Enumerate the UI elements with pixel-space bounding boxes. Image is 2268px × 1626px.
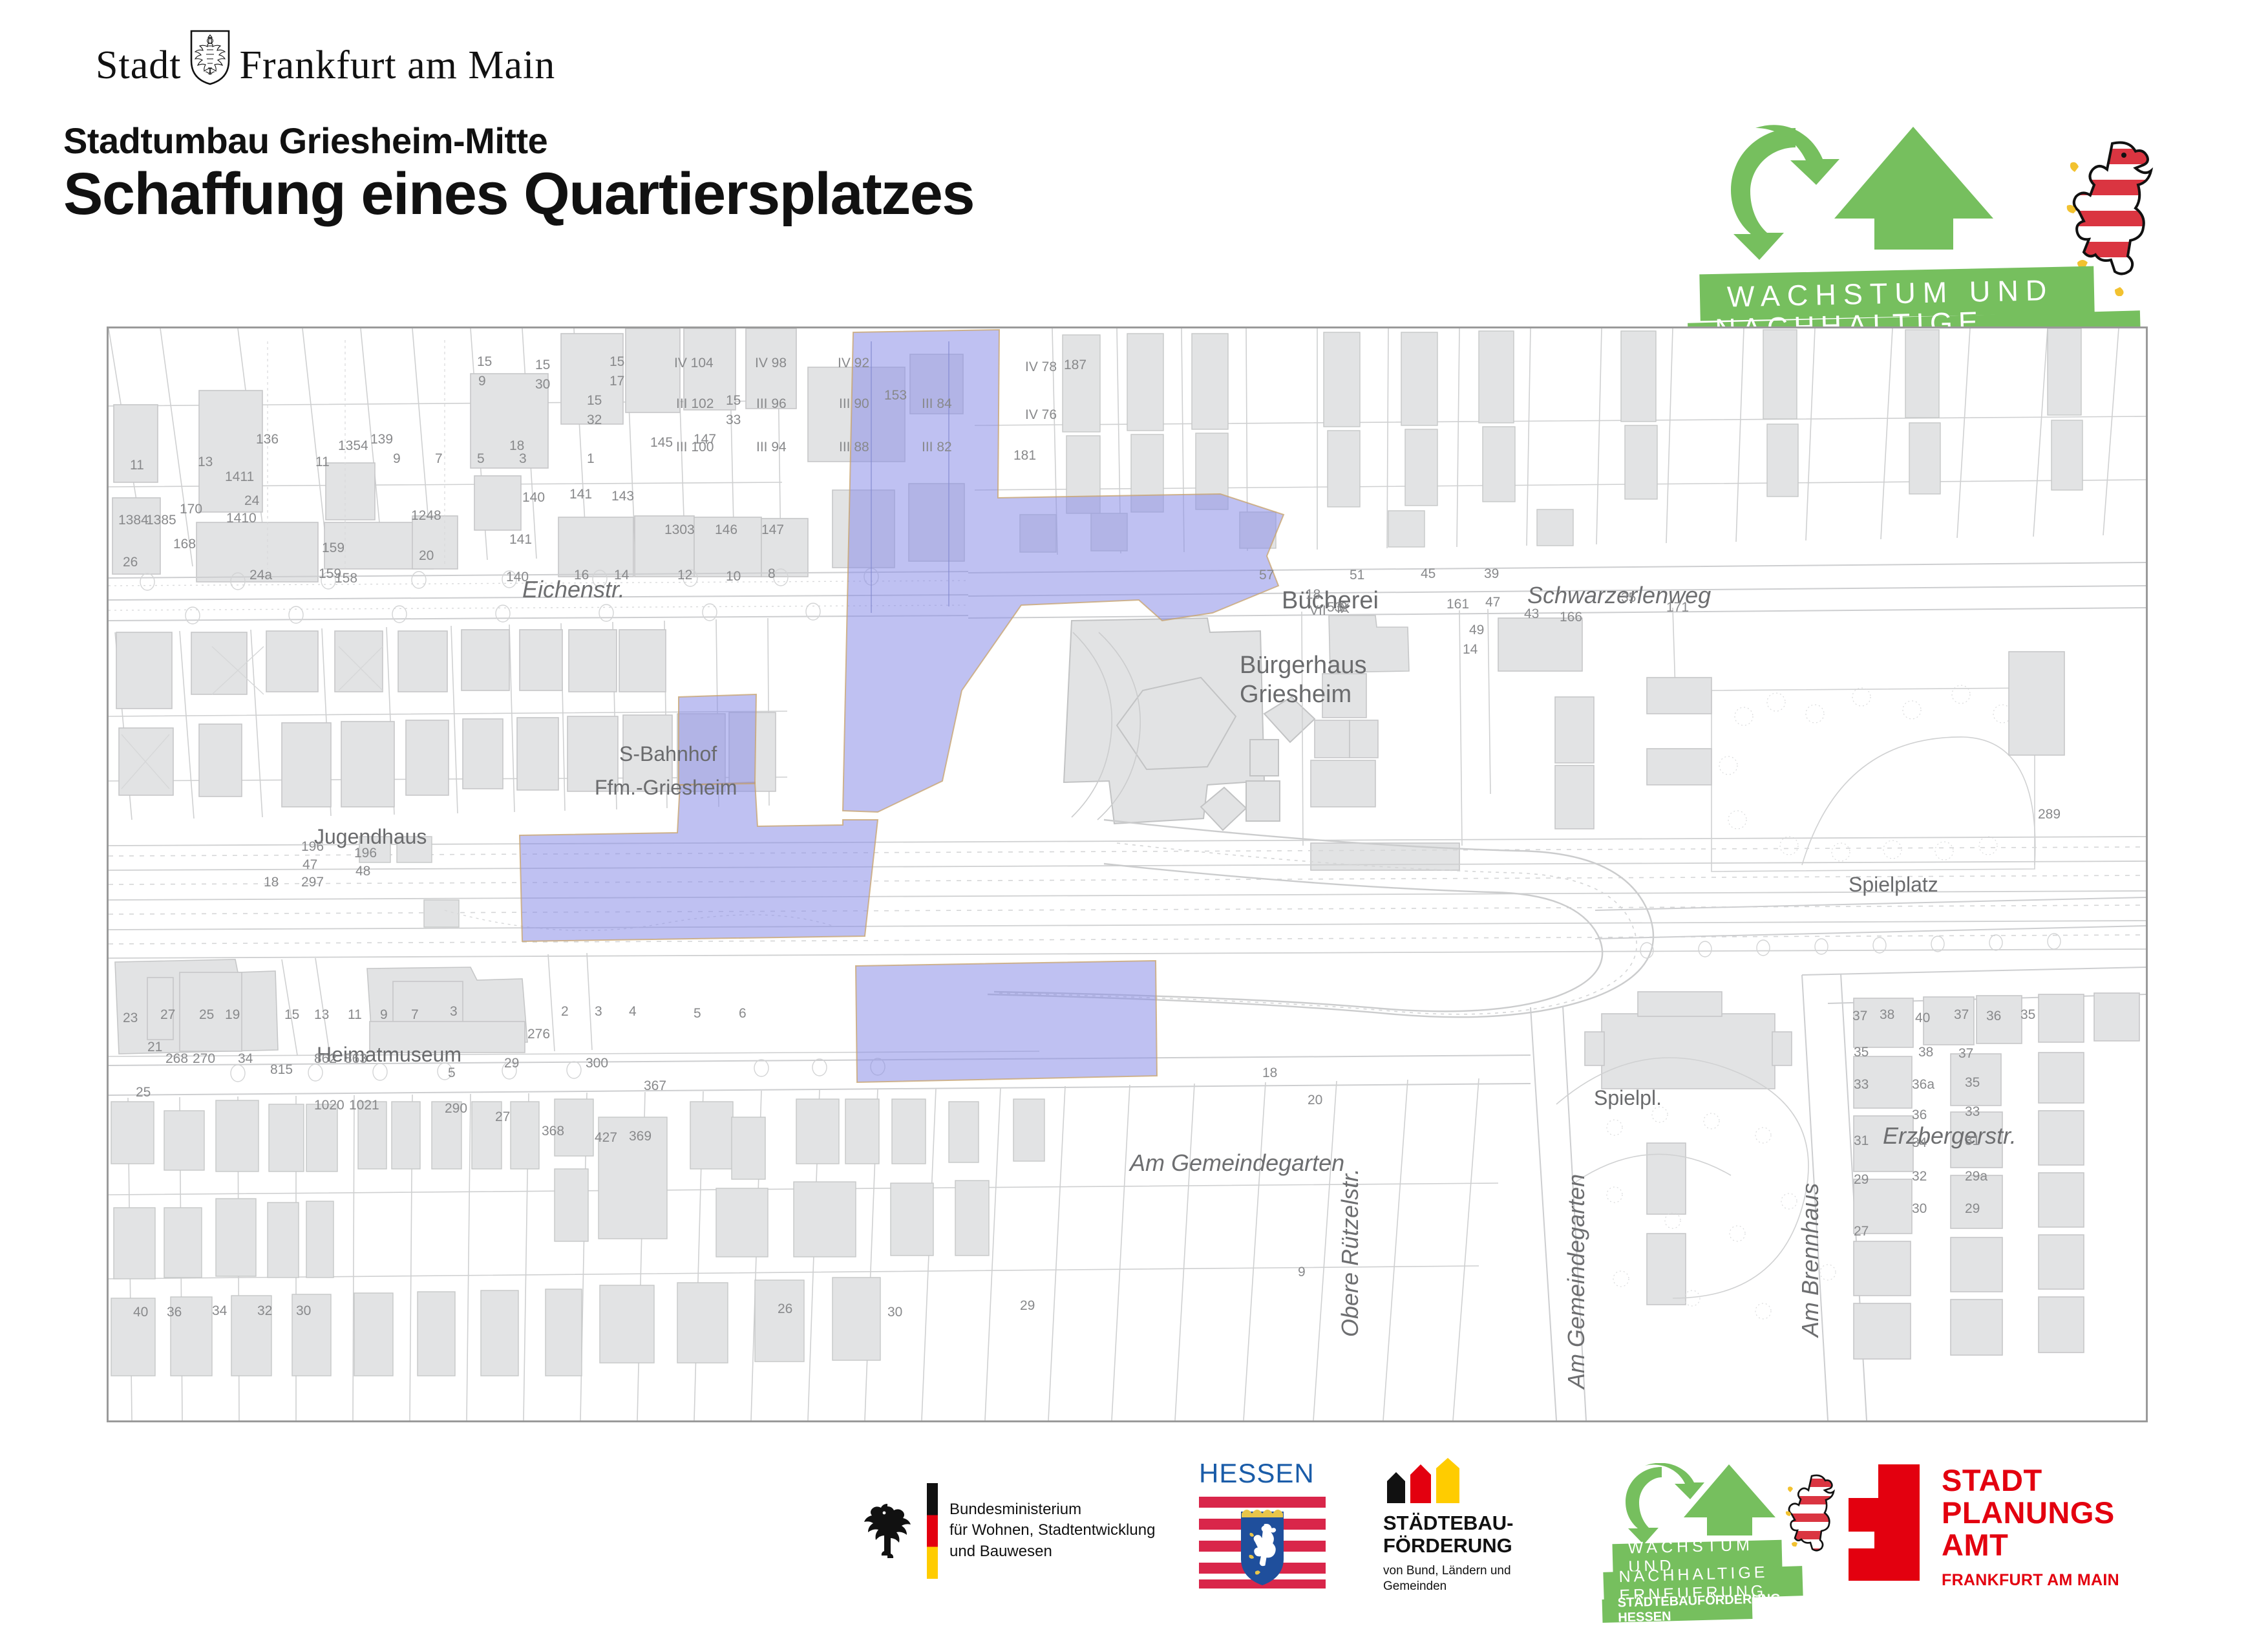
- map-house-number: 36: [1912, 1107, 1927, 1123]
- map-house-number: 21: [147, 1040, 162, 1055]
- map-house-number: 367: [644, 1078, 666, 1094]
- map-house-number: 171: [1666, 600, 1689, 615]
- map-house-number: 29a: [1965, 1169, 1987, 1184]
- bmwsb-line-2: für Wohnen, Stadtentwicklung: [949, 1520, 1155, 1541]
- map-house-number: 4: [629, 1004, 637, 1020]
- map-house-number: 427: [595, 1130, 617, 1146]
- map-house-number: 187: [1064, 358, 1086, 373]
- three-houses-icon: [1383, 1458, 1596, 1503]
- map-house-number: 30: [1912, 1201, 1927, 1217]
- map-house-number: 297: [301, 875, 324, 890]
- project-kicker: Stadtumbau Griesheim-Mitte: [63, 120, 547, 162]
- map-house-number: 24: [244, 493, 259, 509]
- map-house-number: 14: [1463, 642, 1478, 658]
- map-house-number: 27: [1854, 1224, 1869, 1239]
- map-house-number: 36: [167, 1305, 182, 1320]
- map-house-number: III 84: [922, 396, 952, 412]
- map-house-number: 48: [355, 864, 370, 879]
- map-house-number: 11: [348, 1007, 362, 1023]
- map-house-number: 268: [165, 1051, 188, 1067]
- map-house-number: 32: [587, 412, 602, 428]
- map-house-number: 18: [1262, 1065, 1277, 1081]
- map-house-number: 11: [315, 455, 330, 470]
- map-house-number: 181: [1013, 448, 1036, 464]
- map-house-number: 13: [314, 1007, 329, 1023]
- bmwsb-name: Bundesministerium für Wohnen, Stadtentwi…: [949, 1499, 1155, 1561]
- map-house-number: 159: [319, 566, 341, 582]
- map-house-number: 47: [1485, 595, 1500, 610]
- map-house-number: III 88: [839, 440, 869, 455]
- map-house-number: 15: [726, 393, 741, 409]
- map-house-number: 168: [173, 537, 196, 552]
- map-house-number: 2: [561, 1004, 569, 1020]
- map-house-number: 1411: [225, 469, 254, 485]
- hessen-logo: HESSEN: [1199, 1458, 1328, 1603]
- map-house-number: 1: [587, 451, 595, 467]
- recycle-growth-arrow-icon: [1719, 123, 2023, 291]
- map-house-number: 38: [1880, 1007, 1894, 1023]
- spa-line-2: PLANUNGS: [1942, 1497, 2119, 1529]
- map-house-number: 1021: [349, 1098, 379, 1113]
- page-header: Stadt Frankfurt am Main Stadtumbau Gries…: [0, 0, 2268, 326]
- map-house-number: 34: [212, 1303, 227, 1319]
- map-house-number: 45: [1421, 566, 1436, 582]
- map-house-number: 289: [2038, 807, 2061, 822]
- bmwsb-line-1: Bundesministerium: [949, 1499, 1155, 1520]
- map-house-number: 26: [123, 555, 138, 570]
- map-house-number: 18: [264, 875, 279, 890]
- map-house-number: 32: [257, 1303, 272, 1319]
- map-house-number: 29: [1965, 1201, 1980, 1217]
- map-house-number: 10: [726, 569, 741, 584]
- map-house-number: IV 104: [674, 356, 714, 371]
- map-house-number: 1384: [118, 513, 149, 528]
- map-house-number: 5: [477, 451, 485, 467]
- map-house-number: 1303: [664, 522, 695, 538]
- city-logo: Stadt Frankfurt am Main: [96, 28, 555, 85]
- map-house-number: 15: [477, 354, 492, 370]
- staedtebau-sub-1: von Bund, Ländern und: [1383, 1563, 1596, 1579]
- bmwsb-logo: Bundesministerium für Wohnen, Stadtentwi…: [860, 1458, 1163, 1603]
- map-house-number: 33: [1965, 1104, 1980, 1120]
- map-house-number: 43: [1524, 606, 1539, 622]
- map-house-number: 300: [586, 1056, 608, 1071]
- staedtebaufoerderung-logo: STÄDTEBAU- FÖRDERUNG von Bund, Ländern u…: [1383, 1458, 1596, 1603]
- bundesadler-icon: [860, 1501, 915, 1561]
- map-house-number: VII: [1309, 603, 1326, 619]
- map-house-number: 276: [527, 1027, 550, 1042]
- map-house-number: 166: [1560, 610, 1582, 625]
- map-house-number: 20: [1308, 1093, 1322, 1108]
- map-canvas: [109, 328, 2146, 1420]
- staedtebau-subcaption: von Bund, Ländern und Gemeinden: [1383, 1563, 1596, 1594]
- map-house-number: 136: [256, 432, 279, 447]
- map-house-number: IV 98: [755, 356, 787, 371]
- map-house-number: 863: [344, 1051, 367, 1067]
- map-house-number: IV 76: [1025, 407, 1057, 423]
- map-house-number: 35: [2020, 1007, 2035, 1023]
- map-house-number: 35: [1965, 1075, 1980, 1091]
- map-house-number: 49: [1469, 623, 1484, 638]
- map-house-number: 37: [1852, 1009, 1867, 1024]
- map-house-number: III 100: [676, 440, 714, 455]
- map-house-number: 30: [887, 1305, 902, 1320]
- map-house-number: 34: [1912, 1135, 1927, 1151]
- map-house-number: 30: [535, 377, 550, 392]
- stadtplanungsamt-wordmark: STADT PLANUNGS AMT FRANKFURT AM MAIN: [1942, 1464, 2119, 1590]
- map-house-number: 25: [199, 1007, 214, 1023]
- stadtplanungsamt-logo: STADT PLANUNGS AMT FRANKFURT AM MAIN: [1849, 1458, 2159, 1610]
- map-house-number: 35: [1621, 590, 1636, 606]
- map-house-number: 6: [739, 1006, 747, 1022]
- map-house-number: 35: [1854, 1045, 1869, 1060]
- map-house-number: IV 92: [838, 356, 869, 371]
- map-house-number: 9: [1298, 1265, 1306, 1280]
- map-house-number: 1410: [226, 511, 257, 526]
- frankfurt-eagle-shield-icon: [190, 30, 230, 85]
- map-house-number: 15: [284, 1007, 299, 1023]
- map-house-number: 368: [542, 1124, 564, 1139]
- map-house-number: 147: [761, 522, 784, 538]
- map-house-number: 23: [123, 1011, 138, 1026]
- map-house-number: 140: [506, 570, 529, 585]
- map-house-number: 36a: [1912, 1077, 1934, 1093]
- stadtplanungsamt-mark-icon: [1849, 1464, 1920, 1581]
- map-house-number: 24a: [249, 568, 272, 583]
- map-house-number: 14: [614, 568, 629, 583]
- map-house-number: 141: [509, 532, 532, 548]
- map-house-number: III 90: [839, 396, 869, 412]
- map-house-number: 27: [495, 1109, 510, 1125]
- map-house-number: 27: [160, 1007, 175, 1023]
- staedtebau-line-2: FÖRDERUNG: [1383, 1535, 1596, 1557]
- map-house-number: 1385: [146, 513, 176, 528]
- map-house-number: 196: [301, 839, 324, 855]
- map-house-number: 143: [611, 489, 634, 504]
- staedtebau-sub-2: Gemeinden: [1383, 1579, 1596, 1594]
- map-house-number: 5: [448, 1065, 456, 1081]
- map-house-number: 369: [629, 1129, 652, 1144]
- page-title: Schaffung eines Quartiersplatzes: [63, 160, 974, 228]
- map-house-number: 57: [1259, 568, 1274, 583]
- map-house-number: 11: [130, 458, 144, 473]
- city-logo-word-frankfurt: Frankfurt am Main: [239, 45, 555, 85]
- spa-line-3: AMT: [1942, 1529, 2119, 1561]
- spa-line-1: STADT: [1942, 1464, 2119, 1497]
- map-house-number: 40: [1915, 1011, 1930, 1026]
- map-house-number: 815: [270, 1062, 293, 1078]
- map-house-number: 15: [587, 393, 602, 409]
- map-house-number: 145: [650, 435, 673, 451]
- map-house-number: 12: [677, 568, 692, 583]
- map-house-number: 3: [519, 451, 527, 467]
- map-house-number: III 102: [676, 396, 714, 412]
- map-house-number: 29: [504, 1056, 519, 1071]
- map-house-number: 3: [450, 1004, 458, 1020]
- map-house-number: 40: [133, 1305, 148, 1320]
- map-house-number: 31: [1965, 1133, 1980, 1149]
- map-house-number: 17: [609, 374, 624, 389]
- map-house-number: III 82: [922, 440, 952, 455]
- cadastral-map[interactable]: Eichenstr. Schwarzerlenweg Erzbergerstr.…: [107, 326, 2148, 1422]
- map-house-number: 15: [609, 354, 624, 370]
- map-house-number: 15: [535, 358, 550, 373]
- map-house-number: III 94: [756, 440, 787, 455]
- map-house-number: 18: [1306, 587, 1320, 603]
- map-house-number: 39: [1484, 566, 1499, 582]
- map-house-number: 170: [180, 502, 202, 517]
- map-house-number: 29: [1854, 1172, 1869, 1188]
- map-house-number: 33: [1854, 1077, 1869, 1093]
- map-house-number: III 96: [756, 396, 787, 412]
- map-house-number: 13: [198, 455, 213, 470]
- map-house-number: 51: [1350, 568, 1364, 583]
- map-house-number: 9: [478, 374, 486, 389]
- map-house-number: 8: [768, 566, 776, 582]
- map-house-number: 37: [1954, 1007, 1969, 1023]
- hessen-flag-icon: [1199, 1497, 1326, 1589]
- spa-subline: FRANKFURT AM MAIN: [1942, 1571, 2119, 1590]
- map-house-number: 862: [314, 1051, 337, 1067]
- map-house-number: IV 78: [1025, 359, 1057, 375]
- map-house-number: 32: [1912, 1169, 1927, 1184]
- staedtebau-line-1: STÄDTEBAU-: [1383, 1512, 1596, 1535]
- map-house-number: 141: [569, 487, 592, 502]
- map-house-number: 25: [136, 1085, 151, 1100]
- map-house-number: 38: [1918, 1045, 1933, 1060]
- map-house-number: 29: [1020, 1298, 1035, 1314]
- map-house-number: 37: [1958, 1046, 1973, 1062]
- map-house-number: 270: [193, 1051, 215, 1067]
- map-house-number: 159: [322, 540, 344, 556]
- map-house-number: 30: [296, 1303, 311, 1319]
- bmwsb-line-3: und Bauwesen: [949, 1541, 1155, 1562]
- map-house-number: 146: [715, 522, 737, 538]
- map-house-number: 36: [1986, 1009, 2001, 1024]
- map-house-number: 20: [419, 548, 434, 564]
- page-footer: Bundesministerium für Wohnen, Stadtentwi…: [0, 1458, 2268, 1603]
- map-house-number: 5: [694, 1006, 701, 1022]
- map-house-number: 19: [225, 1007, 240, 1023]
- map-house-number: 139: [370, 432, 393, 447]
- map-house-number: 1020: [314, 1098, 344, 1113]
- hessen-wordmark: HESSEN: [1199, 1458, 1328, 1489]
- staedtebau-caption: STÄDTEBAU- FÖRDERUNG: [1383, 1512, 1596, 1557]
- map-house-number: 33: [726, 412, 741, 428]
- map-house-number: 153: [884, 388, 907, 403]
- map-house-number: 16: [574, 568, 589, 583]
- city-logo-word-stadt: Stadt: [96, 45, 181, 85]
- map-house-number: 196: [354, 846, 377, 861]
- map-house-number: 3: [595, 1004, 602, 1020]
- hessen-lion-icon-small: [1773, 1471, 1844, 1561]
- map-house-number: 9: [380, 1007, 388, 1023]
- map-house-number: IX: [1337, 601, 1350, 617]
- map-house-number: 47: [302, 857, 317, 873]
- map-house-number: 161: [1447, 597, 1469, 612]
- map-house-number: 7: [411, 1007, 419, 1023]
- german-flag-bar-icon: [927, 1483, 938, 1579]
- map-house-number: 7: [435, 451, 443, 467]
- map-house-number: 9: [393, 451, 401, 467]
- wue-footer-line3: STÄDTEBAUFÖRDERUNG HESSEN: [1602, 1596, 1753, 1623]
- map-house-number: 26: [778, 1301, 792, 1317]
- map-house-number: 290: [445, 1101, 467, 1117]
- map-house-number: 1354: [338, 438, 368, 454]
- wachstum-erneuerung-logo: WACHSTUM UND NACHHALTIGE ERNEUERUNG STÄD…: [1600, 1458, 1858, 1603]
- map-house-number: 34: [238, 1051, 253, 1067]
- map-house-number: 1248: [411, 508, 441, 524]
- map-house-number: 31: [1854, 1133, 1869, 1149]
- map-house-number: 140: [522, 490, 545, 506]
